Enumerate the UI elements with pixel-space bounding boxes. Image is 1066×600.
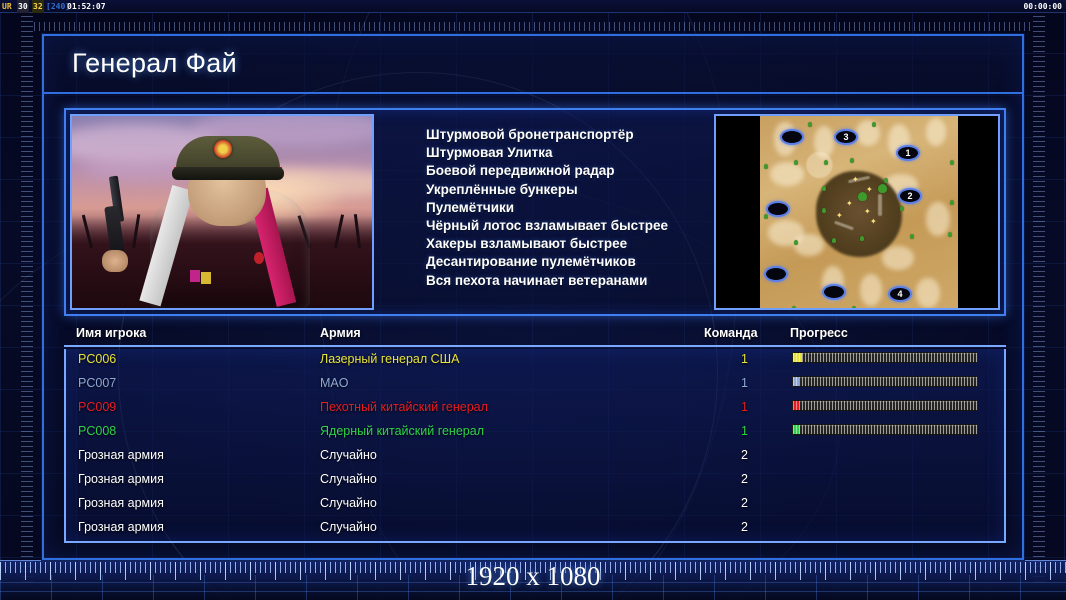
cell-army: Случайно — [320, 520, 377, 534]
ability-item: Десантирование пулемётчиков — [426, 253, 714, 271]
minimap-start-position-3[interactable]: 3 — [834, 129, 858, 145]
app-background: UR 30 32 [240] 01:52:07 00:00:00 Генерал… — [0, 0, 1066, 600]
cell-player-name: Грозная армия — [78, 496, 164, 510]
cell-team: 1 — [734, 376, 748, 390]
ability-item: Штурмовой бронетранспортёр — [426, 126, 714, 144]
cell-team: 2 — [734, 472, 748, 486]
general-abilities-list: Штурмовой бронетранспортёр Штурмовая Ули… — [374, 114, 714, 310]
minimap-start-position-4[interactable]: 4 — [888, 286, 912, 302]
cell-player-name: PC007 — [78, 376, 116, 390]
ability-item: Вся пехота начинает ветеранами — [426, 272, 714, 290]
progress-bar — [792, 376, 978, 387]
top-status-bar: UR 30 32 [240] 01:52:07 00:00:00 — [0, 0, 1066, 13]
status-right-clock: 00:00:00 — [1023, 0, 1062, 13]
main-panel: Генерал Фай — [42, 34, 1024, 560]
progress-bar — [792, 424, 978, 435]
table-body: PC006Лазерный генерал США1PC007MAO1PC009… — [64, 349, 1006, 543]
table-row[interactable]: PC006Лазерный генерал США1 — [66, 349, 1004, 373]
cell-army: Случайно — [320, 496, 377, 510]
cell-army: Лазерный генерал США — [320, 352, 459, 366]
progress-bar-fill — [793, 401, 799, 410]
progress-bar-fill — [793, 353, 802, 362]
column-header-army: Армия — [320, 326, 361, 340]
medal — [201, 272, 211, 284]
ability-item: Чёрный лотос взламывает быстрее — [426, 217, 714, 235]
table-row[interactable]: Грозная армияСлучайно2 — [66, 445, 1004, 469]
cell-progress — [792, 352, 978, 363]
page-title: Генерал Фай — [72, 48, 237, 79]
progress-bar — [792, 400, 978, 411]
progress-bar-fill — [793, 425, 800, 434]
cell-progress — [792, 376, 978, 387]
ability-item: Штурмовая Улитка — [426, 144, 714, 162]
player-table: Имя игрока Армия Команда Прогресс PC006Л… — [64, 326, 1006, 544]
resolution-label: 1920 x 1080 — [0, 561, 1066, 592]
minimap-crater — [816, 171, 902, 257]
ability-item: Укреплённые бункеры — [426, 181, 714, 199]
general-hand — [102, 250, 128, 272]
medal — [190, 270, 200, 282]
ruler-left — [21, 16, 33, 582]
cell-army: Пехотный китайский генерал — [320, 400, 488, 414]
cell-army: Случайно — [320, 448, 377, 462]
cell-army: MAO — [320, 376, 348, 390]
cell-team: 1 — [734, 352, 748, 366]
minimap-start-position[interactable] — [766, 201, 790, 217]
table-row[interactable]: Грозная армияСлучайно2 — [66, 469, 1004, 493]
table-row[interactable]: PC009Пехотный китайский генерал1 — [66, 397, 1004, 421]
column-header-team: Команда — [704, 326, 758, 340]
cell-team: 1 — [734, 424, 748, 438]
cell-team: 2 — [734, 448, 748, 462]
cell-team: 2 — [734, 520, 748, 534]
cell-team: 2 — [734, 496, 748, 510]
minimap-start-position[interactable] — [822, 284, 846, 300]
table-row[interactable]: PC007MAO1 — [66, 373, 1004, 397]
status-clock: 01:52:07 — [67, 0, 106, 13]
ability-item: Пулемётчики — [426, 199, 714, 217]
minimap-start-position-1[interactable]: 1 — [896, 145, 920, 161]
cell-progress — [792, 424, 978, 435]
minimap-start-position[interactable] — [764, 266, 788, 282]
panel-title-bar: Генерал Фай — [44, 36, 1022, 94]
general-info-block: Штурмовой бронетранспортёр Штурмовая Ули… — [64, 108, 1006, 316]
column-header-progress: Прогресс — [790, 326, 848, 340]
status-ur-label: UR — [2, 0, 12, 13]
ruler-right — [1033, 16, 1045, 582]
general-cap-brim — [172, 167, 284, 180]
cell-player-name: Грозная армия — [78, 448, 164, 462]
ruler-top — [34, 22, 1032, 31]
progress-bar — [792, 352, 978, 363]
cell-player-name: Грозная армия — [78, 520, 164, 534]
minimap-start-position[interactable] — [780, 129, 804, 145]
ability-item: Боевой передвижной радар — [426, 162, 714, 180]
cell-progress — [792, 400, 978, 411]
cell-team: 1 — [734, 400, 748, 414]
table-header-row: Имя игрока Армия Команда Прогресс — [64, 326, 1006, 347]
cell-army: Ядерный китайский генерал — [320, 424, 484, 438]
table-row[interactable]: Грозная армияСлучайно2 — [66, 493, 1004, 517]
column-header-player-name: Имя игрока — [76, 326, 146, 340]
ability-item: Хакеры взламывают быстрее — [426, 235, 714, 253]
cell-player-name: PC008 — [78, 424, 116, 438]
minimap[interactable]: ✦ ✦ ✦ ✦ ✦ ✦ 3 1 2 4 — [714, 114, 1000, 310]
cell-army: Случайно — [320, 472, 377, 486]
cell-player-name: PC009 — [78, 400, 116, 414]
medal — [254, 252, 264, 264]
cell-player-name: PC006 — [78, 352, 116, 366]
status-value-b: 32 — [32, 0, 44, 13]
status-value-a: 30 — [17, 0, 29, 13]
minimap-terrain: ✦ ✦ ✦ ✦ ✦ ✦ 3 1 2 4 — [760, 116, 958, 310]
progress-bar-fill — [793, 377, 799, 386]
cell-player-name: Грозная армия — [78, 472, 164, 486]
table-row[interactable]: PC008Ядерный китайский генерал1 — [66, 421, 1004, 445]
table-row[interactable]: Грозная армияСлучайно2 — [66, 517, 1004, 541]
minimap-start-position-2[interactable]: 2 — [898, 188, 922, 204]
cap-emblem-icon — [214, 140, 232, 158]
general-portrait — [70, 114, 374, 310]
